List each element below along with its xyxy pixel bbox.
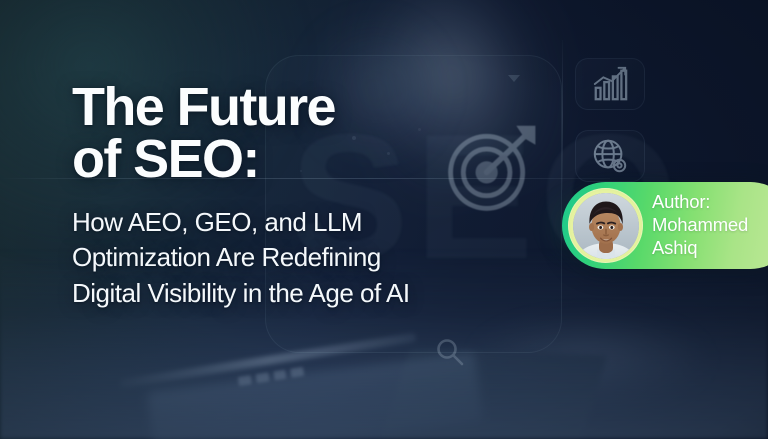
page-subtitle: How AEO, GEO, and LLM Optimization Are R… xyxy=(72,205,572,311)
avatar-ring xyxy=(568,188,643,263)
author-badge[interactable]: Author: Mohammed Ashiq xyxy=(562,182,768,269)
author-name-line-2: Ashiq xyxy=(652,237,768,260)
author-name-line-1: Mohammed xyxy=(652,214,768,237)
author-text-block: Author: Mohammed Ashiq xyxy=(643,191,768,260)
avatar xyxy=(573,193,639,259)
author-label: Author: xyxy=(652,191,768,214)
page-title: The Future of SEO: xyxy=(72,82,572,185)
seo-article-banner: SEO xyxy=(0,0,768,439)
banner-copy-block: The Future of SEO: How AEO, GEO, and LLM… xyxy=(72,82,572,311)
